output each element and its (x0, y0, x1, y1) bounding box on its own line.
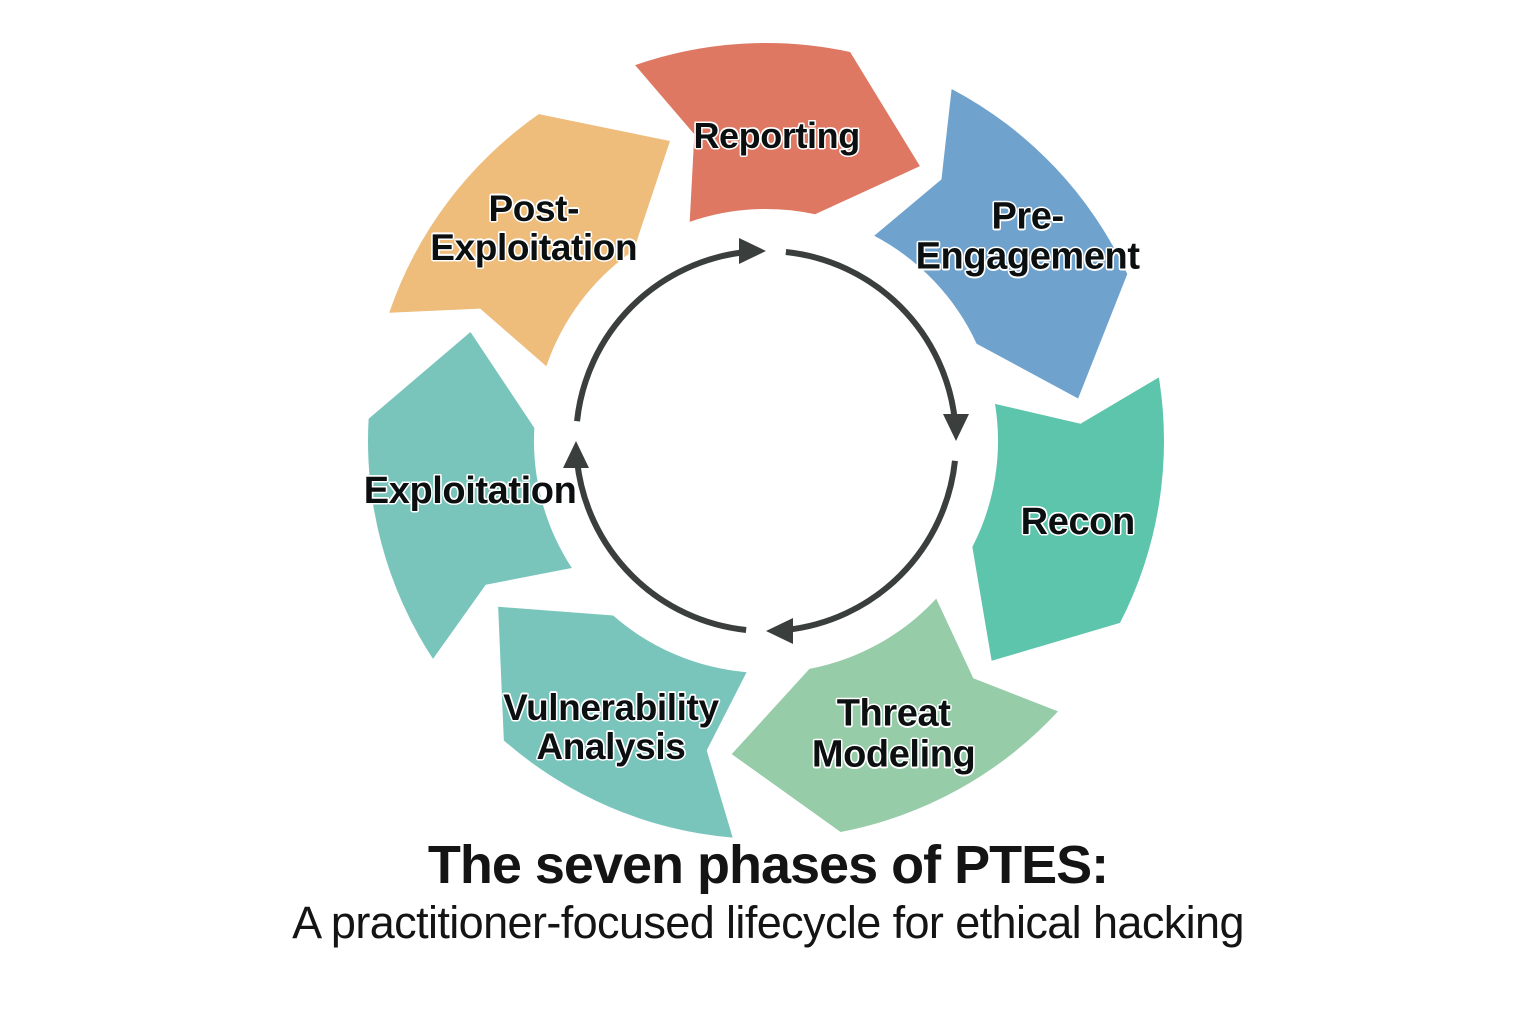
cycle-arrow-arc-2 (786, 252, 955, 421)
wheel-segment-exploitation[interactable] (368, 332, 572, 659)
wheel-segment-vulnerability-analysis[interactable] (498, 607, 746, 838)
cycle-arrow-arc-4 (577, 461, 746, 630)
cycle-arrowhead-4 (563, 441, 589, 468)
wheel-segment-pre-engagement[interactable] (874, 89, 1127, 399)
caption-block: The seven phases of PTES: A practitioner… (0, 836, 1536, 949)
cycle-arrowhead-1 (739, 238, 766, 264)
cycle-arrow-arc-3 (786, 461, 955, 630)
wheel-segment-recon[interactable] (972, 377, 1164, 660)
cycle-arrowhead-2 (943, 414, 969, 441)
cycle-arrow-arc-1 (577, 252, 746, 421)
wheel-segment-reporting[interactable] (635, 43, 920, 222)
caption-title: The seven phases of PTES: (0, 836, 1536, 894)
wheel-segments (368, 43, 1164, 838)
caption-subtitle: A practitioner-focused lifecycle for eth… (0, 898, 1536, 948)
cycle-arrowhead-3 (766, 618, 793, 644)
inner-arrow-ring (563, 238, 969, 644)
wheel-segment-post-exploitation[interactable] (389, 114, 670, 366)
diagram-canvas: Pre- EngagementReconThreat ModelingVulne… (0, 0, 1536, 1024)
